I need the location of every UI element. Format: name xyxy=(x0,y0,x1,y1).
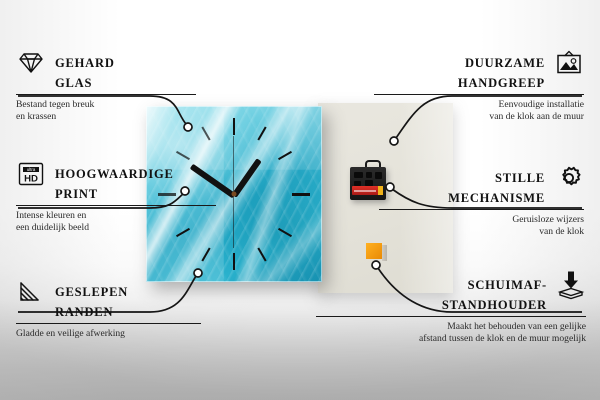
ultra-hd-icon: ultra HD xyxy=(16,161,46,187)
foam-spacer-shadow xyxy=(382,245,387,261)
feature-stille-mechanisme[interactable]: STILLE MECHANISME Geruisloze wijzers van… xyxy=(379,165,584,239)
feature-duurzame-handgreep[interactable]: DUURZAME HANDGREEP Eenvoudige installati… xyxy=(374,50,584,124)
gear-icon xyxy=(554,165,584,191)
mechanism-slot xyxy=(354,172,363,178)
mechanism-slot xyxy=(366,172,372,178)
feature-title-line2: MECHANISME xyxy=(379,191,545,206)
feature-title: HOOGWAARDIGE xyxy=(55,167,174,182)
svg-text:HD: HD xyxy=(24,173,38,184)
feature-title-line2: PRINT xyxy=(55,187,216,202)
feature-description: Gladde en veilige afwerking xyxy=(16,328,201,341)
feature-divider xyxy=(374,94,584,95)
feature-description: Bestand tegen breuk en krassen xyxy=(16,99,196,124)
feature-description: Maakt het behouden van een gelijke afsta… xyxy=(316,321,586,346)
feature-divider xyxy=(316,316,586,317)
feature-divider xyxy=(16,94,196,95)
foam-spacer-pad xyxy=(366,243,382,259)
feature-title: STILLE xyxy=(495,171,545,186)
feature-title-line2: STANDHOUDER xyxy=(316,298,547,313)
beveled-edge-icon xyxy=(16,279,46,305)
feature-description: Intense kleuren en een duidelijk beeld xyxy=(16,210,216,235)
battery-label-stripe xyxy=(354,190,376,192)
clock-tick xyxy=(292,193,310,196)
feature-divider xyxy=(379,209,584,210)
press-down-icon xyxy=(556,272,586,298)
feature-divider xyxy=(16,205,216,206)
svg-text:ultra: ultra xyxy=(27,167,36,172)
clock-tick xyxy=(233,253,235,270)
clock-tick xyxy=(233,118,235,135)
feature-gehard-glas[interactable]: GEHARD GLAS Bestand tegen breuk en krass… xyxy=(16,50,196,124)
diamond-icon xyxy=(16,50,46,76)
feature-title: GEHARD xyxy=(55,56,115,71)
feature-geslepen-randen[interactable]: GESLEPEN RANDEN Gladde en veilige afwerk… xyxy=(16,279,201,340)
feature-title-line2: GLAS xyxy=(55,76,196,91)
feature-schuimaf-standhouder[interactable]: SCHUIMAF- STANDHOUDER Maakt het behouden… xyxy=(316,272,586,346)
picture-frame-icon xyxy=(554,50,584,76)
feature-title-line2: RANDEN xyxy=(55,305,201,320)
feature-hoogwaardige-print[interactable]: ultra HD HOOGWAARDIGE PRINT Intense kleu… xyxy=(16,161,216,235)
feature-divider xyxy=(16,323,201,324)
infographic-stage: GEHARD GLAS Bestand tegen breuk en krass… xyxy=(0,0,600,400)
feature-title: SCHUIMAF- xyxy=(468,278,547,293)
feature-title: DUURZAME xyxy=(465,56,545,71)
feature-description: Eenvoudige installatie van de klok aan d… xyxy=(374,99,584,124)
feature-title: GESLEPEN xyxy=(55,285,128,300)
feature-title-line2: HANDGREEP xyxy=(374,76,545,91)
clock-center-hub xyxy=(232,192,237,197)
feature-description: Geruisloze wijzers van de klok xyxy=(379,214,584,239)
